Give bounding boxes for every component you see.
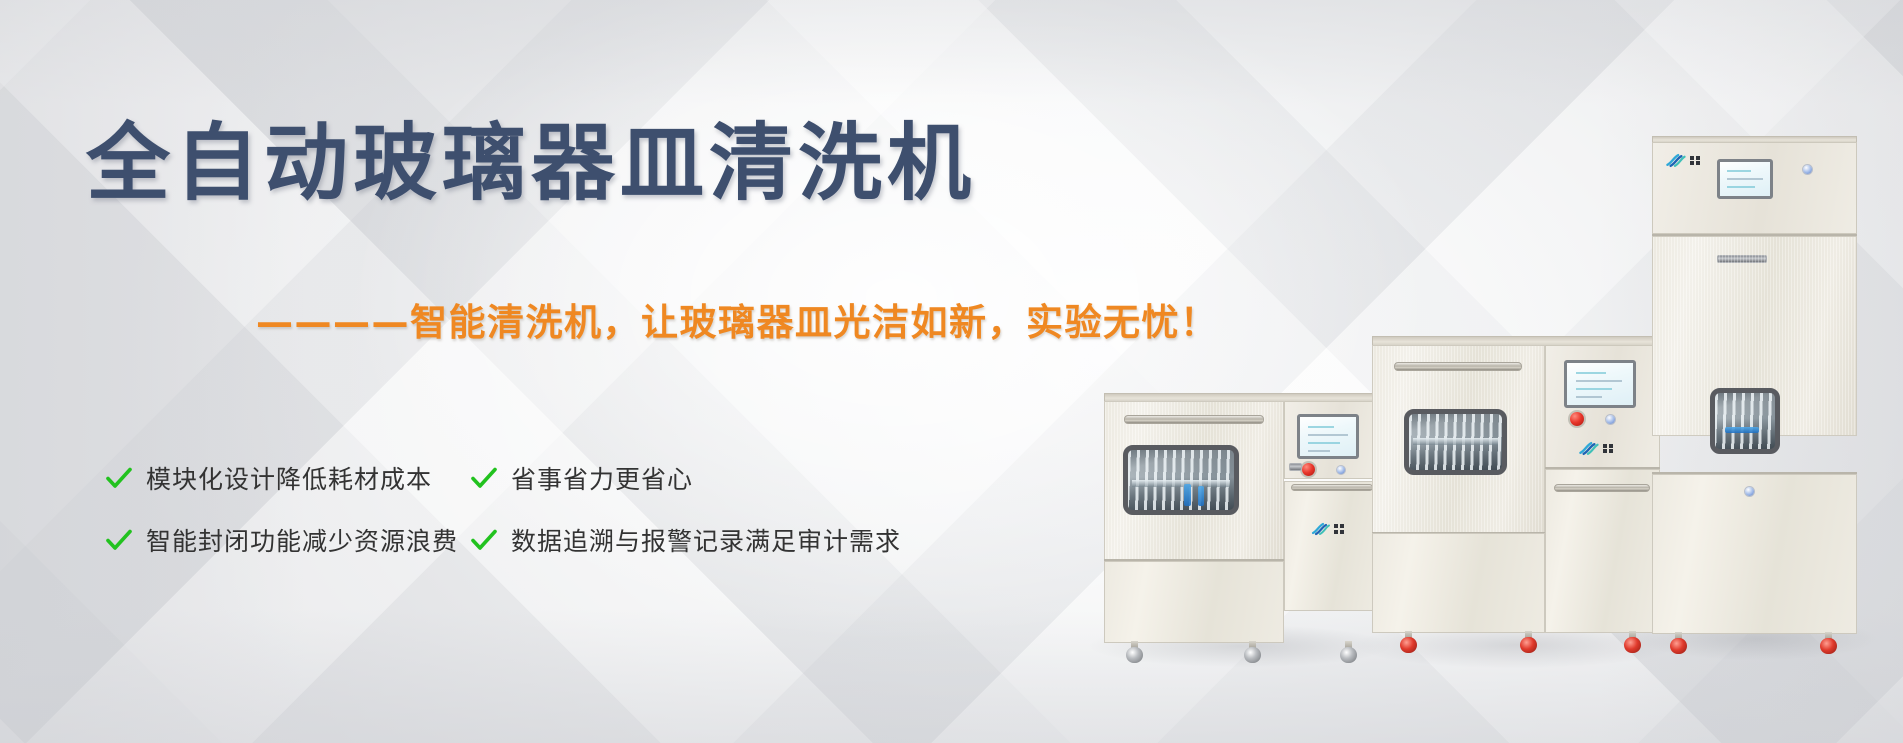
screen-line — [1727, 178, 1763, 180]
screen-line — [1308, 450, 1330, 452]
status-indicator — [1803, 165, 1812, 174]
screen-line — [1576, 380, 1622, 382]
logo-mark-icon — [1578, 441, 1600, 456]
emergency-stop-button[interactable] — [1302, 463, 1315, 476]
product-image-freestanding-washer[interactable] — [1372, 336, 1660, 644]
machine-lower-door — [1652, 474, 1857, 634]
logo-mark-icon — [1665, 153, 1687, 168]
banner-title: 全自动玻璃器皿清洗机 — [86, 96, 976, 217]
touchscreen-display[interactable] — [1564, 360, 1636, 408]
panel-seam — [1104, 559, 1284, 561]
machine-lower-door — [1372, 533, 1545, 633]
company-logo — [1665, 153, 1700, 168]
screen-line — [1308, 426, 1334, 428]
touchscreen-display[interactable] — [1297, 414, 1359, 459]
feature-item: 省事省力更省心 — [469, 460, 929, 496]
feature-row: 模块化设计降低耗材成本 省事省力更省心 — [104, 460, 1004, 496]
screen-line — [1576, 388, 1612, 390]
vent-grille — [1289, 463, 1302, 471]
logo-grid-icon — [1334, 524, 1344, 534]
screen-line — [1576, 372, 1606, 374]
vent-grille — [1717, 255, 1767, 263]
logo-grid-icon — [1690, 156, 1700, 166]
screen-line — [1576, 396, 1602, 398]
feature-row: 智能封闭功能减少资源浪费 数据追溯与报警记录满足审计需求 — [104, 522, 1004, 558]
machine-side-cabinet — [1284, 481, 1378, 611]
caster-wheel — [1520, 631, 1537, 653]
company-logo — [1311, 522, 1344, 536]
door-handle[interactable] — [1394, 362, 1522, 371]
caster-wheel — [1670, 632, 1687, 654]
rack-shelf — [1132, 480, 1230, 487]
status-indicator — [1606, 415, 1615, 424]
blue-tube — [1198, 486, 1204, 506]
door-latch[interactable] — [1745, 487, 1754, 496]
screen-line — [1308, 442, 1340, 444]
blue-tube — [1184, 484, 1191, 506]
caster-wheel — [1624, 631, 1641, 653]
caster-wheel — [1400, 631, 1417, 653]
door-handle[interactable] — [1291, 484, 1373, 491]
logo-grid-icon — [1603, 444, 1613, 454]
glassware-load — [1715, 393, 1775, 449]
feature-label: 数据追溯与报警记录满足审计需求 — [511, 522, 901, 558]
feature-label: 省事省力更省心 — [511, 460, 693, 496]
logo-mark-icon — [1311, 522, 1331, 536]
caster-wheel — [1126, 641, 1143, 663]
chamber-viewing-window — [1404, 409, 1507, 475]
feature-list: 模块化设计降低耗材成本 省事省力更省心 智能封闭功能减少资源浪费 数据追 — [104, 460, 1004, 584]
machine-lower-door — [1104, 561, 1284, 643]
chamber-viewing-window — [1123, 445, 1239, 515]
status-indicator — [1337, 466, 1345, 474]
caster-wheel — [1244, 641, 1261, 663]
chamber-viewing-window — [1710, 388, 1780, 454]
feature-item: 智能封闭功能减少资源浪费 — [104, 522, 469, 558]
check-icon — [104, 525, 134, 555]
product-image-tall-cabinet-washer[interactable] — [1652, 136, 1857, 639]
feature-label: 智能封闭功能减少资源浪费 — [146, 522, 458, 558]
machine-side-cabinet — [1545, 469, 1660, 633]
company-logo — [1578, 441, 1613, 456]
feature-label: 模块化设计降低耗材成本 — [146, 460, 432, 496]
banner-subtitle: ————智能清洗机，让玻璃器皿光洁如新，实验无忧！ — [256, 292, 1219, 346]
screen-line — [1308, 434, 1348, 436]
caster-wheel — [1340, 641, 1357, 663]
feature-item: 模块化设计降低耗材成本 — [104, 460, 469, 496]
check-icon — [469, 463, 499, 493]
screen-line — [1727, 170, 1751, 172]
control-panel[interactable] — [1545, 345, 1660, 468]
product-image-undercounter-washer[interactable] — [1104, 393, 1378, 645]
touchscreen-display[interactable] — [1717, 159, 1773, 199]
door-handle[interactable] — [1554, 484, 1650, 492]
screen-line — [1727, 186, 1755, 188]
feature-item: 数据追溯与报警记录满足审计需求 — [469, 522, 929, 558]
blue-spray-arm — [1725, 427, 1759, 433]
door-handle[interactable] — [1124, 415, 1264, 424]
rack-shelf — [1413, 438, 1499, 445]
caster-wheel — [1820, 632, 1837, 654]
control-panel[interactable] — [1652, 142, 1857, 234]
product-hero-banner: 全自动玻璃器皿清洗机 ————智能清洗机，让玻璃器皿光洁如新，实验无忧！ 模块化… — [0, 0, 1903, 743]
check-icon — [469, 525, 499, 555]
emergency-stop-button[interactable] — [1570, 412, 1584, 426]
check-icon — [104, 463, 134, 493]
